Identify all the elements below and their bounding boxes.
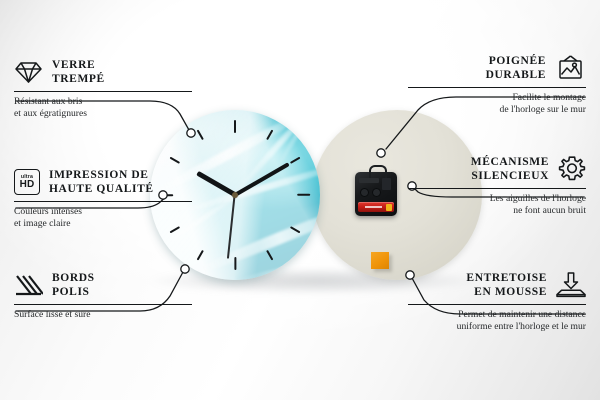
feature-title: MÉCANISME SILENCIEUX: [471, 155, 549, 183]
feature-header: MÉCANISME SILENCIEUX: [408, 155, 586, 183]
feature-divider: [14, 91, 192, 92]
gear-icon: [558, 155, 586, 183]
feature-header: VERRE TREMPÉ: [14, 58, 192, 86]
feature-mecanisme-silencieux: MÉCANISME SILENCIEUX Les aiguilles de l'…: [408, 155, 586, 217]
feature-title: ENTRETOISE EN MOUSSE: [466, 271, 547, 299]
callout-marker-verre-trempe: [187, 129, 195, 137]
feature-subtitle: Les aiguilles de l'horloge ne font aucun…: [408, 193, 586, 216]
feature-poignee-durable: POIGNÉE DURABLE Facilite le montage de l…: [408, 54, 586, 116]
feature-entretoise-en-mousse: ENTRETOISE EN MOUSSE Permet de maintenir…: [408, 271, 586, 333]
feature-subtitle: Surface lisse et sûre: [14, 309, 192, 321]
feature-subtitle: Résistant aux bris et aux égratignures: [14, 96, 192, 119]
ultra-hd-icon-bottom-text: HD: [20, 180, 35, 190]
product-infographic: VERRE TREMPÉ Résistant aux bris et aux é…: [0, 0, 600, 400]
feature-subtitle: Permet de maintenir une distance uniform…: [408, 309, 586, 332]
feature-bords-polis: BORDS POLIS Surface lisse et sûre: [14, 271, 192, 321]
feature-subtitle: Facilite le montage de l'horloge sur le …: [408, 92, 586, 115]
feature-verre-trempe: VERRE TREMPÉ Résistant aux bris et aux é…: [14, 58, 192, 120]
feature-title: BORDS POLIS: [52, 271, 95, 299]
feature-header: ENTRETOISE EN MOUSSE: [408, 271, 586, 299]
diamond-icon: [14, 60, 43, 84]
feature-subtitle: Couleurs intenses et image claire: [14, 206, 192, 229]
feature-header: BORDS POLIS: [14, 271, 192, 299]
feature-divider: [14, 201, 192, 202]
feature-impression-haute-qualite: ultra HD IMPRESSION DE HAUTE QUALITÉ Cou…: [14, 168, 192, 230]
press-down-icon: [556, 272, 586, 299]
polished-edges-icon: [14, 273, 43, 297]
feature-title: POIGNÉE DURABLE: [486, 54, 546, 82]
feature-divider: [408, 188, 586, 189]
ultra-hd-icon: ultra HD: [14, 169, 40, 195]
feature-title: VERRE TREMPÉ: [52, 58, 105, 86]
feature-divider: [14, 304, 192, 305]
feature-divider: [408, 304, 586, 305]
feature-title: IMPRESSION DE HAUTE QUALITÉ: [49, 168, 154, 196]
feature-header: POIGNÉE DURABLE: [408, 54, 586, 82]
feature-divider: [408, 87, 586, 88]
callout-marker-poignee: [377, 149, 385, 157]
wall-hanger-icon: [555, 55, 586, 81]
feature-header: ultra HD IMPRESSION DE HAUTE QUALITÉ: [14, 168, 192, 196]
